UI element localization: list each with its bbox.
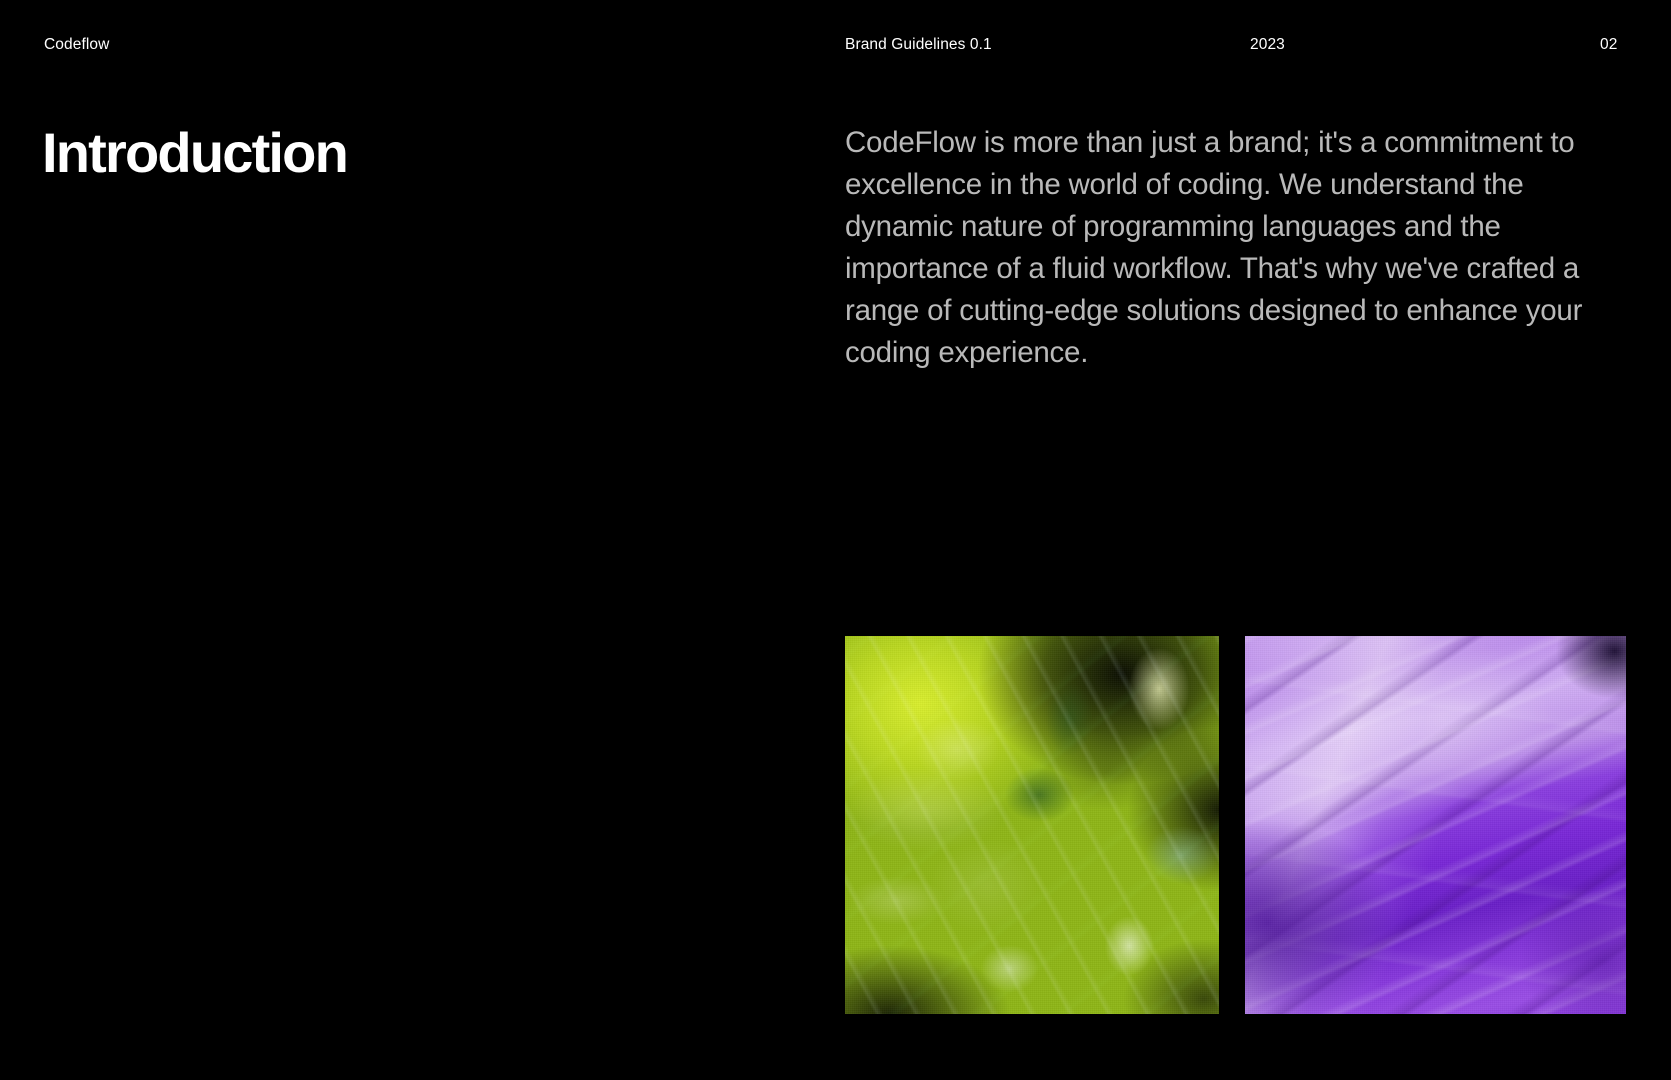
header-page-number: 02 [1600,34,1617,56]
header-year: 2023 [1250,34,1285,56]
header-brand-name: Codeflow [44,34,109,56]
page-title: Introduction [42,122,347,184]
green-ink-image [845,636,1219,1014]
purple-fabric-artwork [1245,636,1626,1014]
header-document-title: Brand Guidelines 0.1 [845,34,992,56]
green-ink-artwork [845,636,1219,1014]
introduction-paragraph: CodeFlow is more than just a brand; it's… [845,122,1635,374]
purple-fabric-image [1245,636,1626,1014]
purple-shadow-layer [1245,636,1626,1014]
brand-guidelines-page: Codeflow Brand Guidelines 0.1 2023 02 In… [0,0,1671,1080]
media-row [845,636,1626,1014]
page-header: Codeflow Brand Guidelines 0.1 2023 02 [0,34,1671,58]
green-wisp-layer [845,636,1219,1014]
